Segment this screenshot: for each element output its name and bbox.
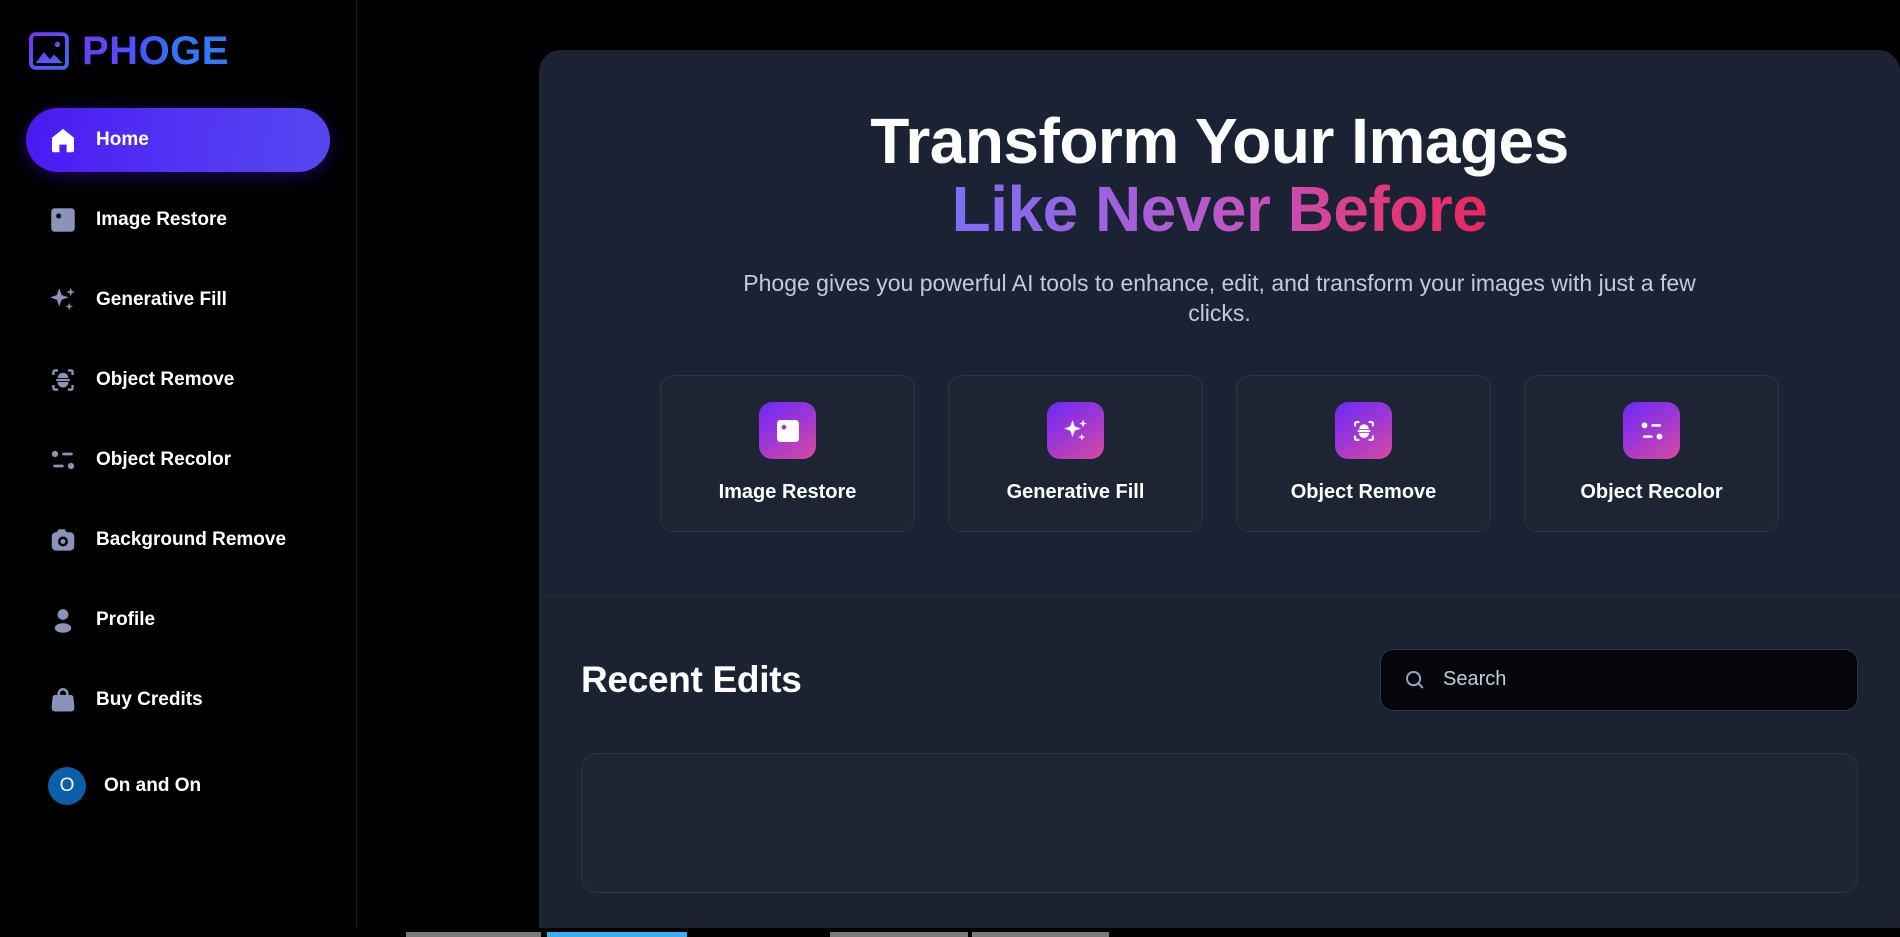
hero-title-line2: Like Never Before — [952, 173, 1488, 245]
image-icon — [48, 205, 78, 235]
app-root: PHOGE Home Image Restore — [0, 0, 1900, 937]
tool-card-object-remove[interactable]: Object Remove — [1236, 375, 1491, 532]
search-icon — [1403, 668, 1427, 692]
brand-logo[interactable]: PHOGE — [0, 22, 356, 80]
page-title: Transform Your Images Like Never Before — [539, 108, 1900, 244]
sidebar-item-object-remove[interactable]: Object Remove — [26, 348, 330, 412]
hero-title-line1: Transform Your Images — [870, 105, 1568, 177]
filter-sliders-icon — [48, 445, 78, 475]
tool-card-object-recolor[interactable]: Object Recolor — [1524, 375, 1779, 532]
sparkles-icon — [1062, 417, 1090, 445]
home-icon — [48, 125, 78, 155]
user-icon — [48, 605, 78, 635]
avatar: O — [48, 767, 86, 805]
tool-card-label: Image Restore — [719, 481, 857, 504]
user-name: On and On — [104, 775, 201, 797]
sidebar-item-object-recolor[interactable]: Object Recolor — [26, 428, 330, 492]
sidebar-item-label: Image Restore — [96, 209, 227, 231]
tile — [1335, 402, 1392, 459]
tile — [1623, 402, 1680, 459]
search-box[interactable] — [1380, 649, 1858, 711]
recent-edits-header: Recent Edits — [579, 649, 1860, 711]
search-input[interactable] — [1443, 668, 1835, 691]
hero-section: Transform Your Images Like Never Before … — [539, 50, 1900, 597]
browser-bottom-strip — [0, 928, 1900, 937]
sidebar-item-background-remove[interactable]: Background Remove — [26, 508, 330, 572]
strip-segment-active[interactable] — [547, 932, 687, 937]
tool-card-label: Object Remove — [1291, 481, 1437, 504]
tool-card-image-restore[interactable]: Image Restore — [660, 375, 915, 532]
sidebar-item-label: Background Remove — [96, 529, 286, 551]
tool-card-generative-fill[interactable]: Generative Fill — [948, 375, 1203, 532]
sidebar-item-buy-credits[interactable]: Buy Credits — [26, 668, 330, 732]
camera-icon — [48, 525, 78, 555]
tool-cards: Image Restore Generative Fill — [539, 375, 1900, 532]
tool-card-label: Generative Fill — [1007, 481, 1145, 504]
sidebar-item-label: Object Remove — [96, 369, 234, 391]
filter-sliders-icon — [1638, 417, 1666, 445]
strip-segment — [972, 932, 1109, 937]
sidebar-item-generative-fill[interactable]: Generative Fill — [26, 268, 330, 332]
image-logo-icon — [27, 29, 71, 73]
image-icon — [774, 417, 802, 445]
user-menu[interactable]: O On and On — [0, 754, 356, 818]
sidebar-item-home[interactable]: Home — [26, 108, 330, 172]
main-stage: Transform Your Images Like Never Before … — [357, 0, 1900, 937]
sidebar-item-label: Buy Credits — [96, 689, 203, 711]
tile — [1047, 402, 1104, 459]
strip-segment — [406, 932, 541, 937]
sidebar-item-label: Object Recolor — [96, 449, 231, 471]
sidebar-item-profile[interactable]: Profile — [26, 588, 330, 652]
recent-edit-item[interactable] — [581, 753, 1858, 893]
tile — [759, 402, 816, 459]
sidebar-item-label: Generative Fill — [96, 289, 227, 311]
sidebar-item-image-restore[interactable]: Image Restore — [26, 188, 330, 252]
sidebar-nav: Home Image Restore Generative Fill — [0, 108, 356, 732]
hero-subtitle: Phoge gives you powerful AI tools to enh… — [740, 268, 1700, 329]
section-title: Recent Edits — [581, 659, 802, 701]
tool-card-label: Object Recolor — [1580, 481, 1722, 504]
recent-edits-section: Recent Edits — [539, 597, 1900, 893]
sparkles-icon — [48, 285, 78, 315]
scan-icon — [48, 365, 78, 395]
sidebar-item-label: Home — [96, 129, 149, 151]
content-panel: Transform Your Images Like Never Before … — [539, 50, 1900, 937]
scan-icon — [1350, 417, 1378, 445]
bag-icon — [48, 685, 78, 715]
sidebar-item-label: Profile — [96, 609, 155, 631]
brand-name: PHOGE — [82, 29, 229, 73]
sidebar: PHOGE Home Image Restore — [0, 0, 357, 937]
strip-segment — [830, 932, 968, 937]
